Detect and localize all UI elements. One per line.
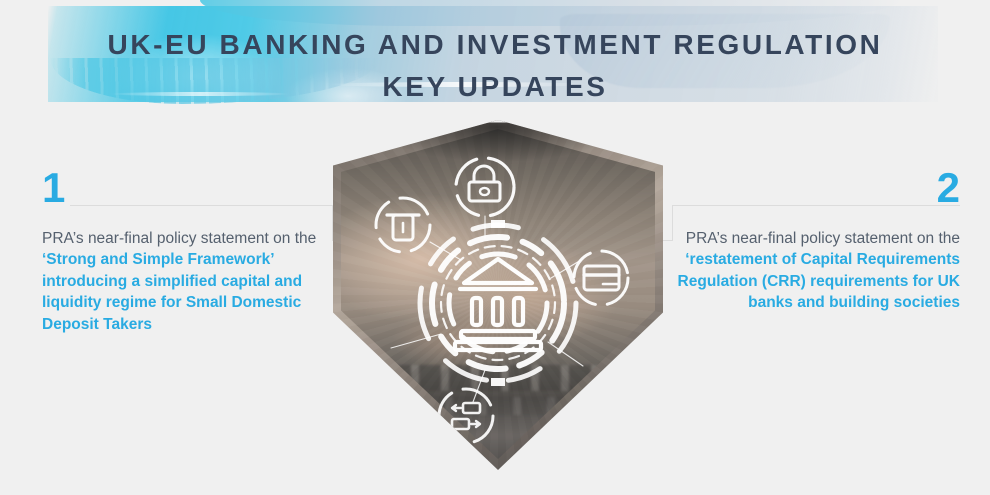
bank-building-icon bbox=[455, 259, 541, 350]
page-title: UK-EU BANKING AND INVESTMENT REGULATION … bbox=[0, 24, 990, 108]
item-1-highlight-text: ‘Strong and Simple Framework’ introducin… bbox=[42, 251, 302, 333]
item-2-highlight-text: ‘restatement of Capital Requirements Reg… bbox=[678, 251, 960, 311]
banking-security-shield bbox=[333, 120, 663, 470]
shield-icon-network bbox=[333, 120, 663, 470]
atm-cash-dispense-icon bbox=[376, 198, 430, 252]
credit-card-icon bbox=[574, 251, 628, 305]
infographic-canvas: UK-EU BANKING AND INVESTMENT REGULATION … bbox=[0, 0, 990, 495]
item-1-lead-text: PRA’s near-final policy statement on the bbox=[42, 230, 316, 247]
secured-banknote-lock-icon bbox=[456, 158, 514, 216]
central-ring-system bbox=[420, 220, 576, 386]
item-2-lead-text: PRA’s near-final policy statement on the bbox=[686, 230, 960, 247]
item-2-divider bbox=[672, 205, 960, 206]
page-title-line-2: KEY UPDATES bbox=[0, 66, 990, 108]
money-transfer-icon bbox=[439, 389, 493, 443]
page-title-line-1: UK-EU BANKING AND INVESTMENT REGULATION bbox=[108, 29, 883, 60]
item-1-text: PRA’s near-final policy statement on the… bbox=[42, 228, 332, 336]
item-2-text: PRA’s near-final policy statement on the… bbox=[660, 228, 960, 314]
